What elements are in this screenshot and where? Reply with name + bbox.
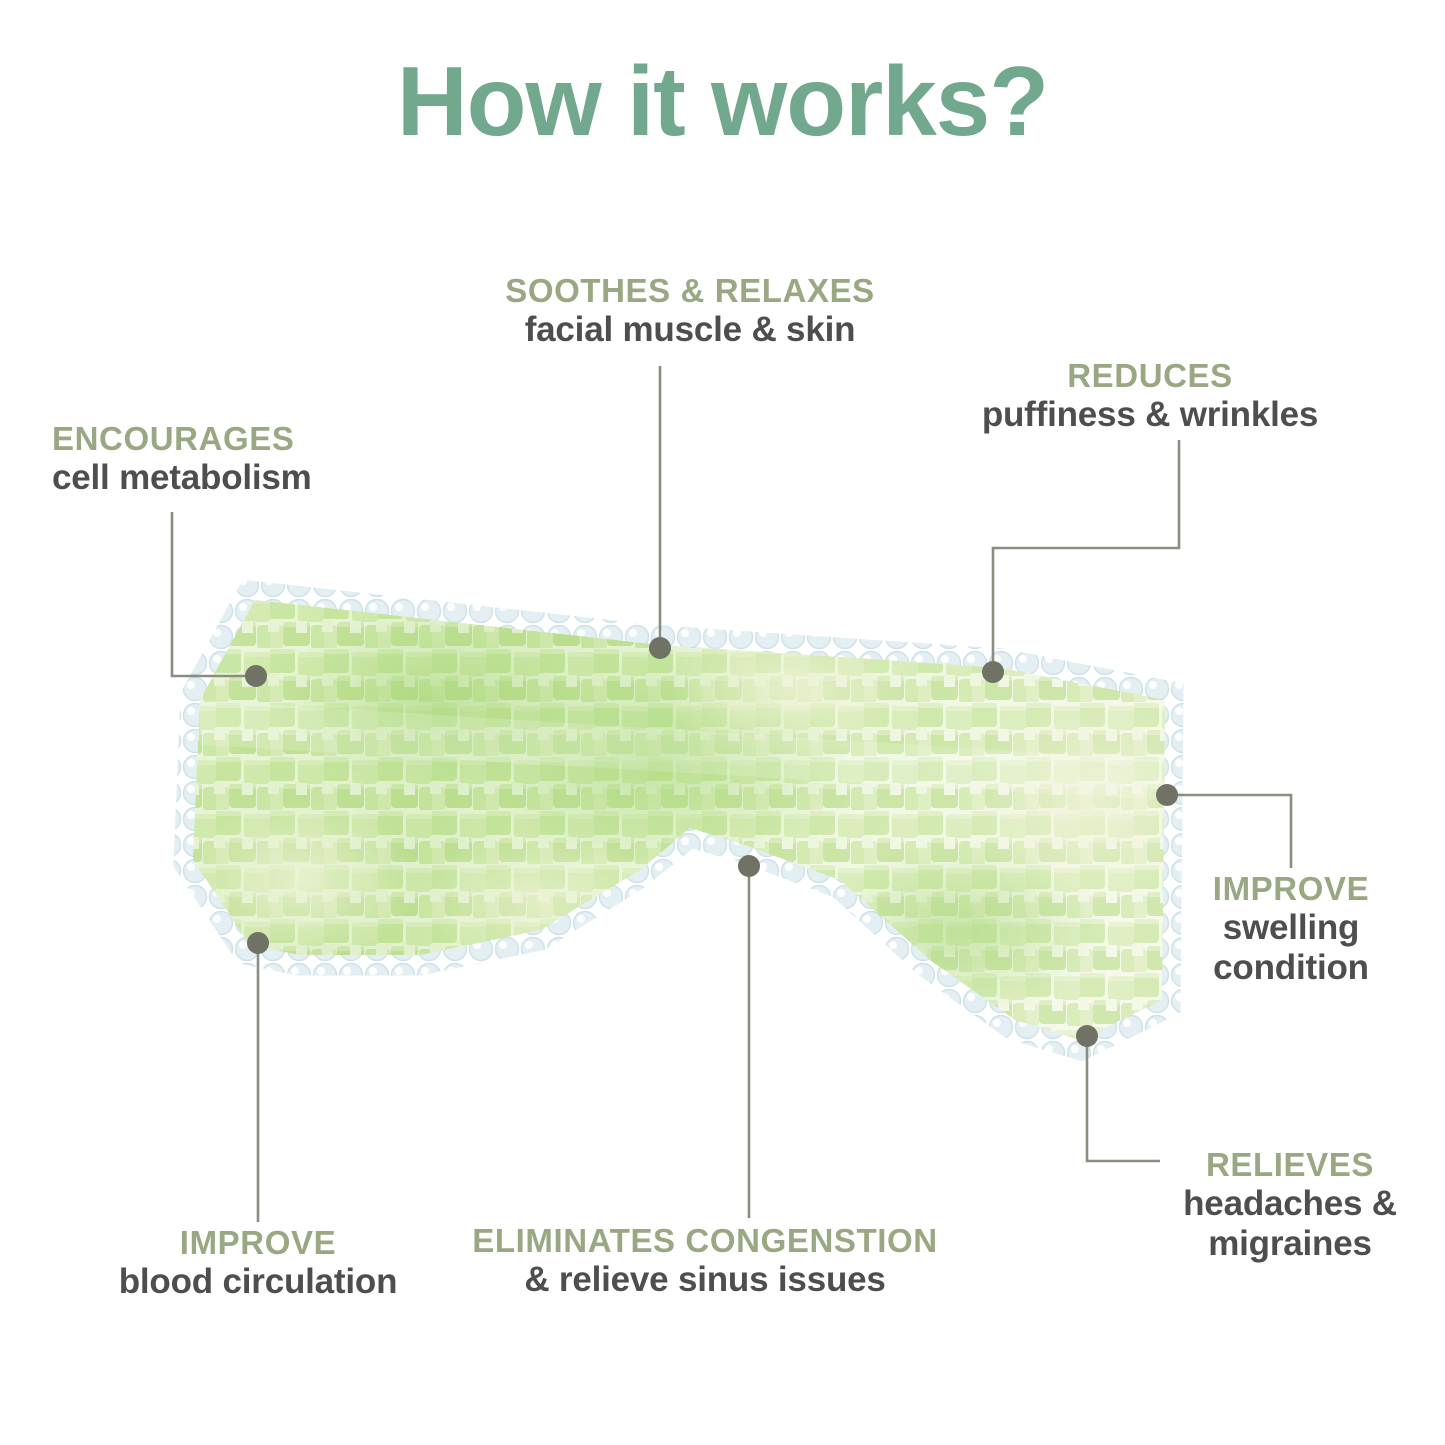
leader-eliminates-congestion [738,855,760,1218]
leader-relieves [1076,1025,1160,1161]
leader-reduces [982,440,1179,683]
leader-improve-swelling [1156,784,1291,868]
leader-lines [0,0,1445,1445]
leader-soothes-relaxes [649,366,671,659]
leader-improve-circulation [247,932,269,1222]
leader-encourages [172,512,267,687]
